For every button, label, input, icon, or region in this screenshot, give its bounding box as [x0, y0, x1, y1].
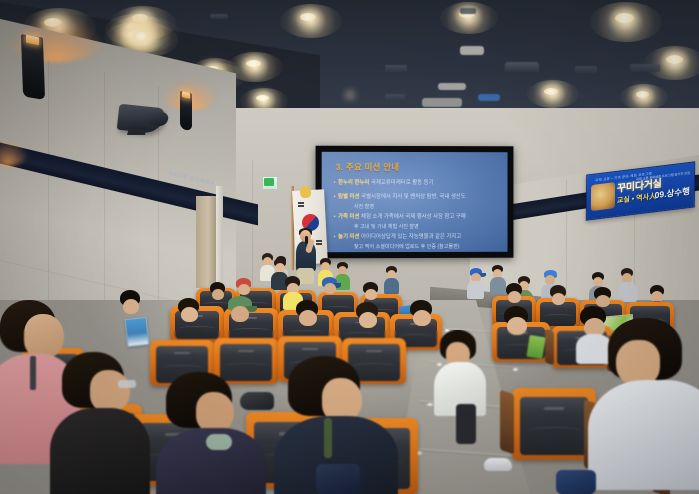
step-light-icon: [512, 368, 519, 371]
trigram-mark: [316, 243, 322, 245]
flag-finial: [299, 185, 311, 198]
eyeglasses-icon: [118, 380, 136, 388]
projected-slide: 3. 주요 미션 안내 •한누리 한누리 국제교류마케터로 활동 등기 •팀별 …: [322, 152, 508, 252]
door-jamb: [216, 186, 223, 290]
slide-bullet: •팀별 미션 국별시장에서 지사 및 벤처상 탐방, 국내 생산도: [334, 194, 466, 201]
downlight-icon: [666, 55, 683, 64]
bullet-dot: •: [334, 234, 336, 240]
slide-bullet: •한누리 한누리 국제교류마케터로 활동 등기: [334, 180, 434, 187]
backpack: [556, 470, 596, 494]
slide-bullet-cont: 사진 촬영: [354, 203, 374, 210]
downlight-icon: [246, 60, 261, 67]
lanyard: [324, 418, 332, 458]
downlight-icon: [256, 95, 269, 101]
downlight-icon: [300, 13, 316, 21]
slide-bullet-cont: 후 고내 및 가내 체험 사진 촬영: [354, 223, 419, 230]
shoe: [484, 458, 512, 471]
downlight-icon: [133, 32, 149, 40]
downlight-icon: [440, 2, 498, 34]
slide-bullet: •놀기 미션 아이디어상답게 있는 자능명물과 같은 가지고: [334, 234, 461, 241]
ceiling-vent: [385, 65, 407, 72]
bullet-key: 가족 미션: [338, 214, 359, 220]
program-booklet: [125, 317, 150, 347]
bullet-dot: •: [334, 214, 336, 220]
downlight-icon: [636, 91, 649, 98]
bullet-dot: •: [334, 194, 336, 200]
banner-characters-illustration: [591, 182, 615, 211]
trigram-mark: [298, 202, 304, 204]
ceiling-vent: [210, 14, 228, 19]
bullet-key: 놀기 미션: [338, 234, 359, 240]
downlight-icon: [544, 88, 558, 95]
step-light-icon: [436, 363, 443, 366]
bullet-key: 한누리 한누리: [338, 180, 369, 186]
slide-bullet-cont: 찾고 찍어 소셜미디어에 업로드 후 인증 (참고물판): [354, 243, 460, 250]
bullet-dot: •: [334, 180, 336, 186]
trigram-mark: [298, 205, 304, 207]
slide-bullet: •가족 미션 체험 소개 가족에서 국제 행사상 사장 참고 구매: [334, 214, 466, 221]
ceiling-panel: [460, 46, 484, 55]
backpack: [316, 464, 360, 494]
microphone-icon: [305, 236, 308, 244]
trigram-mark: [316, 240, 322, 242]
slide-title: 3. 주요 미션 안내: [336, 161, 400, 173]
downlight-icon: [280, 4, 342, 38]
exit-sign-glyph: [264, 178, 274, 186]
downlight-icon: [615, 13, 634, 23]
bullet-text: 체험 소개 가족에서 국제 행사상 사장 참고 구매: [361, 214, 466, 220]
auditorium-photo: 국제교류 문화체험관 3. 주요 미션 안내 •한누리 한누리 국제교류마케터로…: [0, 0, 699, 494]
ceiling-panel: [422, 98, 462, 107]
projection-screen-icon: 3. 주요 미션 안내 •한누리 한누리 국제교류마케터로 활동 등기 •팀별 …: [316, 146, 514, 259]
bullet-text: 국제교류마케터로 활동 등기: [371, 180, 434, 186]
leg: [456, 404, 476, 444]
step-light-icon: [426, 403, 434, 406]
side-door[interactable]: [196, 196, 218, 288]
ceiling-vent: [460, 8, 476, 14]
wall-speaker-mount: [127, 127, 147, 135]
bullet-text: 국별시장에서 지사 및 벤처상 탐방, 국내 생산도: [361, 194, 466, 200]
shoe: [240, 392, 274, 410]
auditorium-seat[interactable]: [214, 338, 278, 384]
wall-seam: [252, 160, 253, 300]
ceiling-vent: [630, 64, 660, 72]
seat-armrest: [545, 329, 554, 366]
shoe: [206, 434, 232, 450]
ceiling-vent: [385, 94, 405, 100]
green-brochure: [526, 335, 545, 359]
bullet-key: 팀별 미션: [338, 194, 359, 200]
ceiling-vent: [575, 66, 597, 73]
seat-armrest: [500, 390, 514, 455]
bullet-text: 아이디어상답게 있는 자능명물과 같은 가지고: [361, 234, 461, 240]
lanyard: [30, 356, 36, 390]
ceiling-sign: [478, 94, 500, 101]
ceiling-projector: [505, 62, 539, 74]
ceiling-panel: [438, 83, 466, 90]
